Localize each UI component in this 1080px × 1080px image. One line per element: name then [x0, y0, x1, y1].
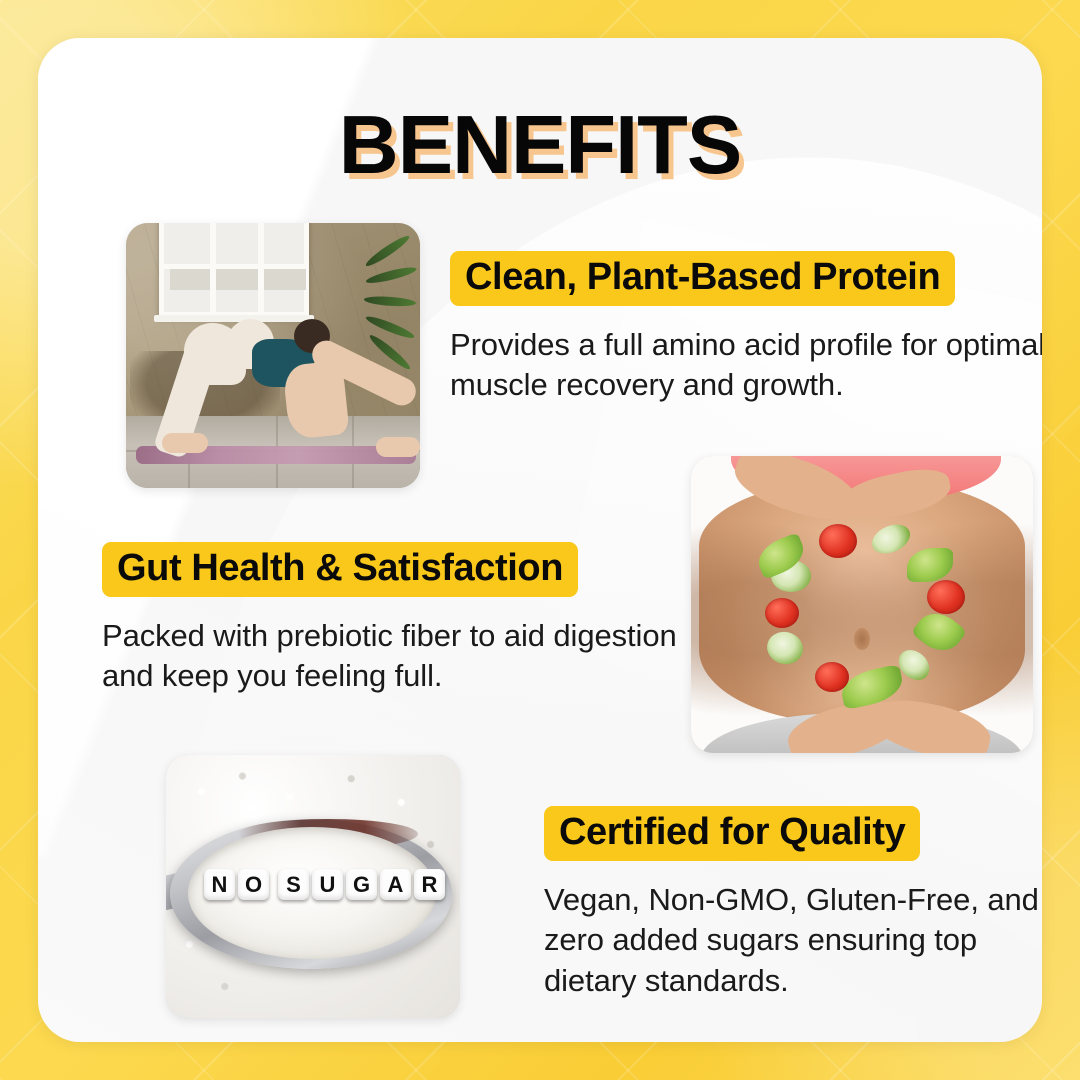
benefit-heading-3: Certified for Quality [544, 806, 920, 861]
benefit-item-1: Clean, Plant-Based Protein Provides a fu… [450, 251, 1042, 406]
yoga-downward-dog-photo [126, 223, 420, 488]
potted-plant-icon [360, 251, 420, 359]
navel [854, 628, 870, 650]
letter-bead: O [238, 869, 269, 900]
window-mullion [258, 223, 264, 317]
benefit-description-3: Vegan, Non-GMO, Gluten-Free, and zero ad… [544, 880, 1042, 1001]
letter-bead: A [380, 869, 411, 900]
letter-bead: U [312, 869, 343, 900]
letter-bead: N [204, 869, 235, 900]
window-mullion [210, 223, 216, 317]
no-sugar-spoon-photo: N O S U G A R [166, 755, 460, 1018]
letter-bead: R [414, 869, 445, 900]
benefit-heading-2: Gut Health & Satisfaction [102, 542, 578, 597]
benefit-description-1: Provides a full amino acid profile for o… [450, 325, 1042, 406]
letter-bead: G [346, 869, 377, 900]
benefit-item-2: Gut Health & Satisfaction Packed with pr… [102, 542, 702, 697]
letter-bead: S [278, 869, 309, 900]
page-title: BENEFITS [339, 104, 741, 185]
title-container: BENEFITS [38, 104, 1042, 185]
window-mullion [159, 264, 309, 269]
benefits-card: BENEFITS [38, 38, 1042, 1042]
benefit-item-3: Certified for Quality Vegan, Non-GMO, Gl… [544, 806, 1042, 1001]
gut-health-vegetables-photo [691, 456, 1033, 753]
benefit-description-2: Packed with prebiotic fiber to aid diges… [102, 616, 702, 697]
window-sill [154, 315, 314, 322]
benefit-heading-1: Clean, Plant-Based Protein [450, 251, 955, 306]
window-icon [159, 223, 309, 317]
